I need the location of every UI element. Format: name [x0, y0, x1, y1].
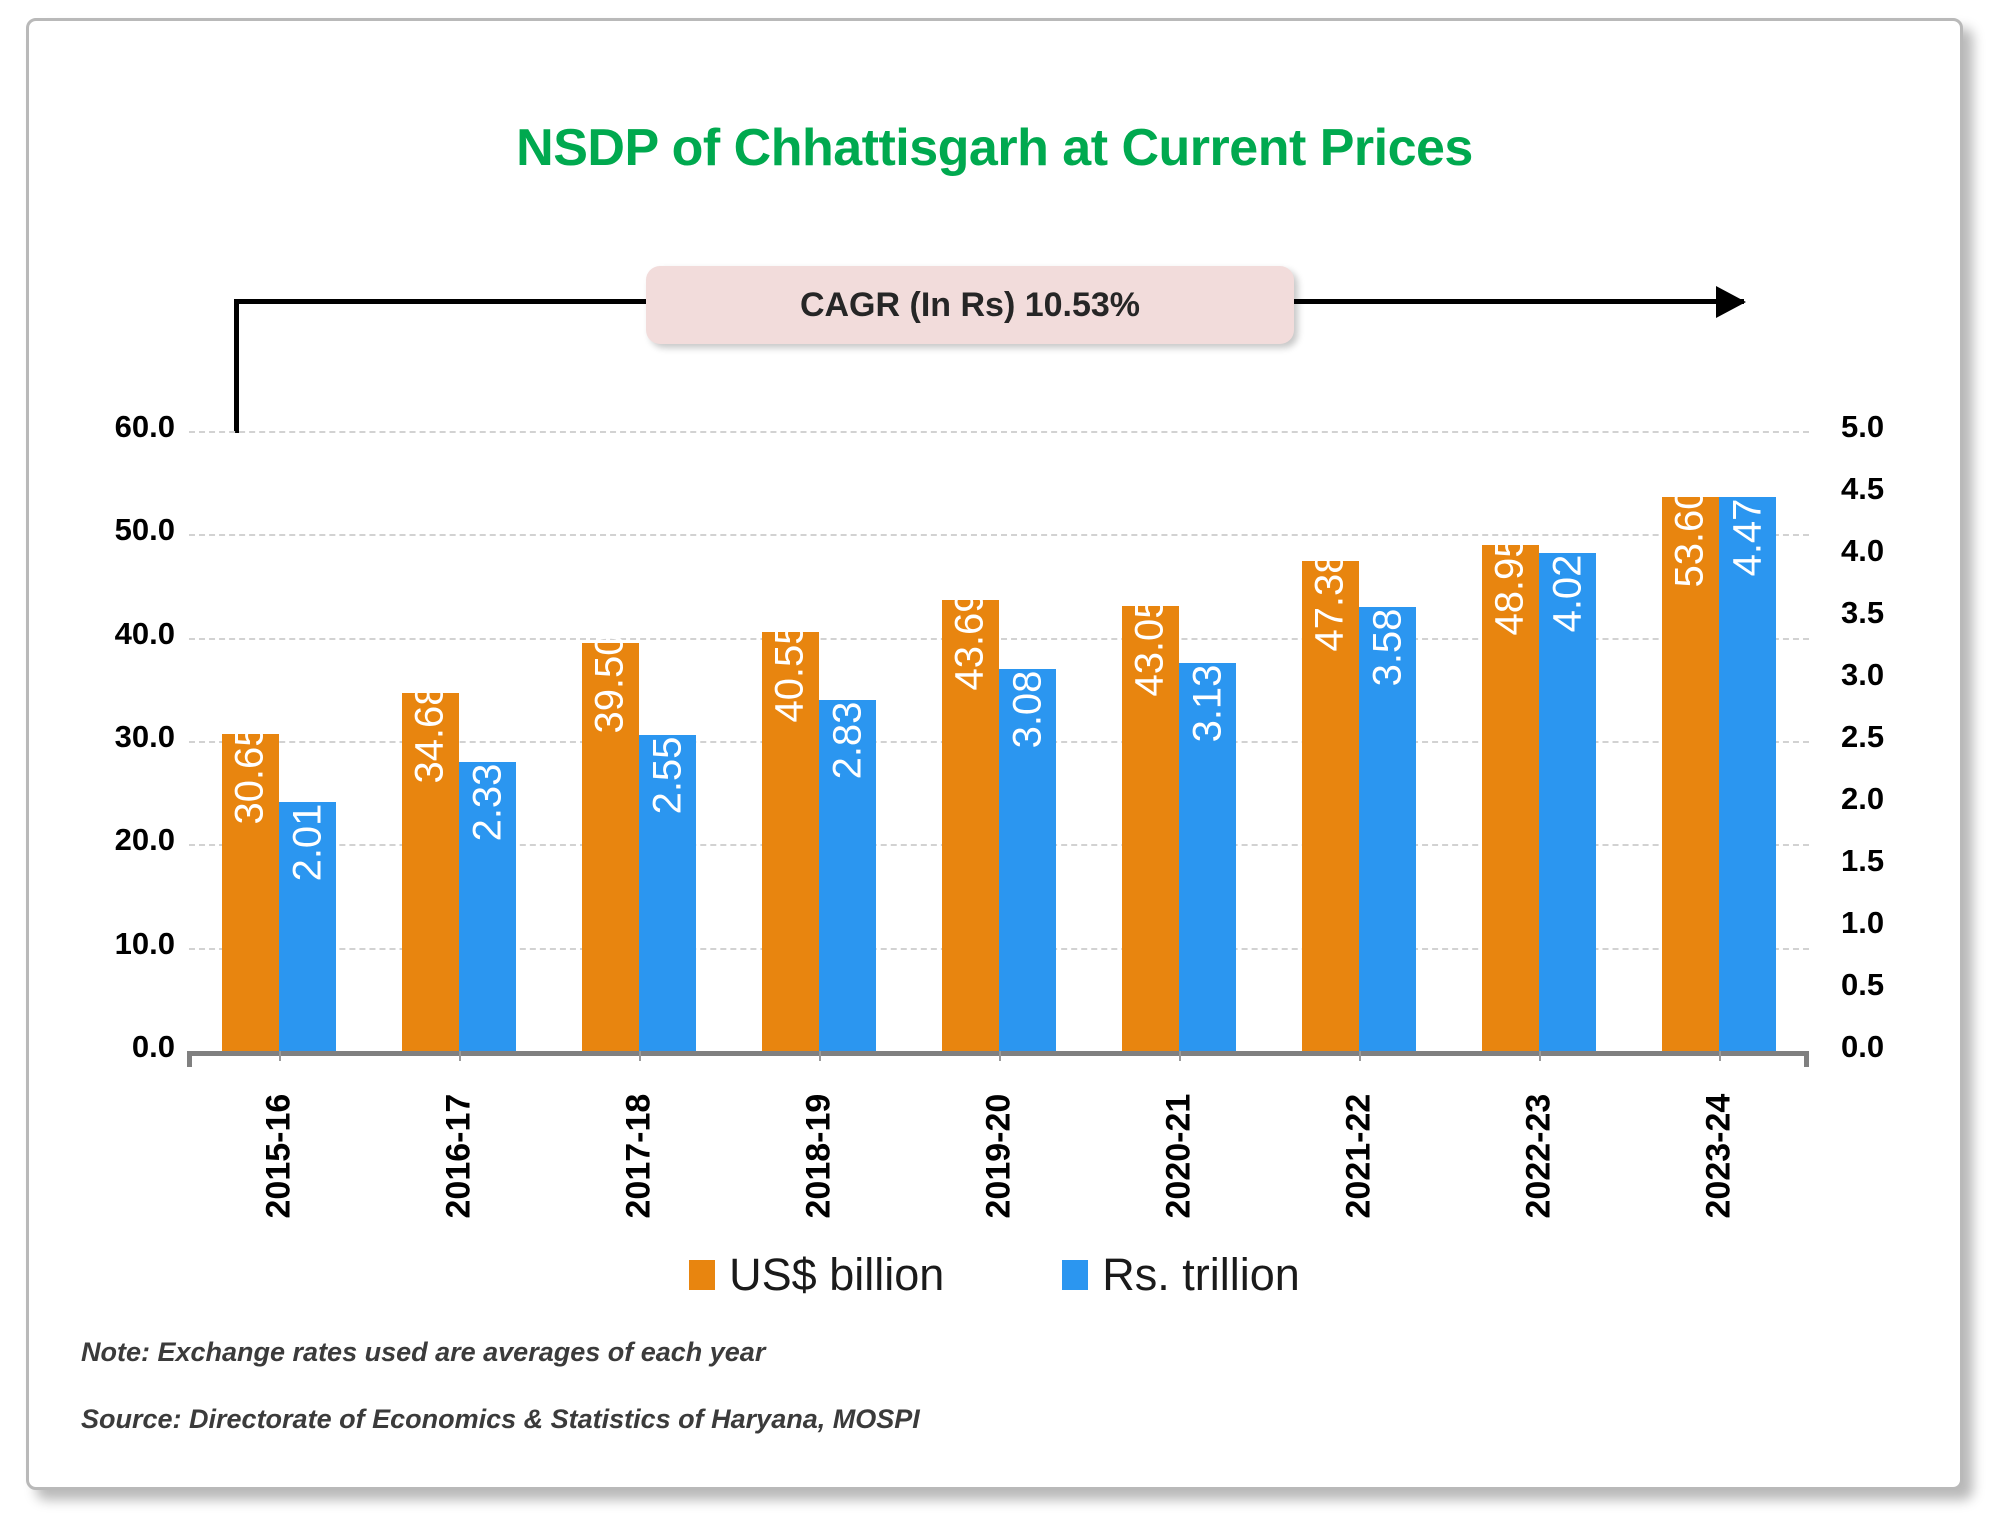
bar-value-label: 34.68 [408, 683, 453, 783]
y-axis-left-tick: 20.0 [87, 822, 175, 858]
x-axis-label: 2019-20 [980, 1099, 1019, 1219]
bar-value-label: 39.50 [588, 633, 633, 733]
arrow-right-icon [1716, 286, 1746, 318]
chart-legend: US$ billionRs. trillion [29, 1249, 1960, 1301]
x-axis-labels: 2015-162016-172017-182018-192019-202020-… [189, 1061, 1809, 1251]
bar-value-label: 2.83 [825, 702, 870, 780]
x-axis-label: 2020-21 [1160, 1099, 1199, 1219]
y-axis-left-tick: 30.0 [87, 719, 175, 755]
y-axis-right-tick: 4.0 [1841, 533, 1884, 569]
bar-inr[interactable]: 2.55 [639, 735, 696, 1051]
bar-group: 47.383.58 [1302, 351, 1416, 1051]
legend-swatch-icon [1062, 1260, 1088, 1290]
bar-value-label: 53.60 [1668, 488, 1713, 588]
y-axis-right-tick: 3.5 [1841, 595, 1884, 631]
y-axis-right-tick: 3.0 [1841, 657, 1884, 693]
legend-label: Rs. trillion [1102, 1249, 1300, 1301]
y-axis-right-tick: 5.0 [1841, 409, 1884, 445]
bar-group: 40.552.83 [762, 351, 876, 1051]
bar-inr[interactable]: 3.58 [1359, 607, 1416, 1051]
x-axis-tick [819, 1051, 821, 1061]
bar-value-label: 2.55 [645, 736, 690, 814]
y-axis-right-tick: 1.0 [1841, 905, 1884, 941]
bar-usd[interactable]: 43.69 [942, 600, 999, 1051]
bar-usd[interactable]: 47.38 [1302, 561, 1359, 1051]
source-line: Source: Directorate of Economics & Stati… [81, 1404, 920, 1435]
bar-group: 30.652.01 [222, 351, 336, 1051]
x-axis-tick [639, 1051, 641, 1061]
cagr-badge: CAGR (In Rs) 10.53% [646, 266, 1294, 344]
bar-inr[interactable]: 2.83 [819, 700, 876, 1051]
legend-item-inr[interactable]: Rs. trillion [1062, 1249, 1300, 1301]
y-axis-left-tick: 60.0 [87, 409, 175, 445]
y-axis-left-tick: 40.0 [87, 616, 175, 652]
x-axis-label: 2021-22 [1340, 1099, 1379, 1219]
bar-usd[interactable]: 40.55 [762, 632, 819, 1051]
legend-swatch-icon [689, 1260, 715, 1290]
bar-value-label: 3.08 [1005, 671, 1050, 749]
bar-value-label: 47.38 [1308, 552, 1353, 652]
bar-value-label: 4.47 [1725, 498, 1770, 576]
x-axis-label: 2018-19 [800, 1099, 839, 1219]
y-axis-right-tick: 2.0 [1841, 781, 1884, 817]
y-axis-left-tick: 10.0 [87, 926, 175, 962]
bar-usd[interactable]: 39.50 [582, 643, 639, 1051]
bar-value-label: 43.69 [948, 590, 993, 690]
y-axis-left-tick: 50.0 [87, 512, 175, 548]
x-axis-label: 2023-24 [1700, 1099, 1739, 1219]
x-axis-tick [1719, 1051, 1721, 1061]
y-axis-right-tick: 2.5 [1841, 719, 1884, 755]
footnotes: Note: Exchange rates used are averages o… [81, 1337, 920, 1471]
cagr-badge-label: CAGR (In Rs) 10.53% [800, 286, 1140, 325]
bar-inr[interactable]: 3.13 [1179, 663, 1236, 1051]
y-axis-left-tick: 0.0 [87, 1029, 175, 1065]
y-axis-right-tick: 1.5 [1841, 843, 1884, 879]
note-line: Note: Exchange rates used are averages o… [81, 1337, 920, 1368]
bar-inr[interactable]: 3.08 [999, 669, 1056, 1051]
bar-group: 43.053.13 [1122, 351, 1236, 1051]
bar-value-label: 4.02 [1545, 554, 1590, 632]
legend-item-usd[interactable]: US$ billion [689, 1249, 944, 1301]
x-axis-tick [459, 1051, 461, 1061]
bar-value-label: 30.65 [228, 725, 273, 825]
x-axis-tick [1359, 1051, 1361, 1061]
bar-value-label: 2.33 [465, 764, 510, 842]
bar-usd[interactable]: 34.68 [402, 693, 459, 1051]
chart-card: NSDP of Chhattisgarh at Current Prices C… [26, 18, 1963, 1490]
legend-label: US$ billion [729, 1249, 944, 1301]
x-axis-label: 2015-16 [260, 1099, 299, 1219]
x-axis-tick [1539, 1051, 1541, 1061]
bar-inr[interactable]: 2.33 [459, 762, 516, 1051]
x-axis-tick [1179, 1051, 1181, 1061]
bar-value-label: 40.55 [768, 622, 813, 722]
bar-group: 39.502.55 [582, 351, 696, 1051]
bar-value-label: 43.05 [1128, 597, 1173, 697]
bar-usd[interactable]: 30.65 [222, 734, 279, 1051]
x-axis-tick [999, 1051, 1001, 1061]
y-axis-right-tick: 0.0 [1841, 1029, 1884, 1065]
x-axis-tick [279, 1051, 281, 1061]
bar-usd[interactable]: 53.60 [1662, 497, 1719, 1051]
bar-value-label: 48.95 [1488, 536, 1533, 636]
x-axis-label: 2022-23 [1520, 1099, 1559, 1219]
bar-value-label: 2.01 [285, 803, 330, 881]
bars-layer: 30.652.0134.682.3339.502.5540.552.8343.6… [189, 351, 1809, 1051]
bar-value-label: 3.13 [1185, 664, 1230, 742]
bar-usd[interactable]: 43.05 [1122, 606, 1179, 1051]
bar-inr[interactable]: 2.01 [279, 802, 336, 1051]
y-axis-right-tick: 0.5 [1841, 967, 1884, 1003]
bar-group: 48.954.02 [1482, 351, 1596, 1051]
y-axis-right-tick: 4.5 [1841, 471, 1884, 507]
bar-group: 43.693.08 [942, 351, 1056, 1051]
bar-group: 53.604.47 [1662, 351, 1776, 1051]
x-axis-label: 2017-18 [620, 1099, 659, 1219]
page-title: NSDP of Chhattisgarh at Current Prices [29, 118, 1960, 178]
bar-group: 34.682.33 [402, 351, 516, 1051]
x-axis-label: 2016-17 [440, 1099, 479, 1219]
bar-inr[interactable]: 4.47 [1719, 497, 1776, 1051]
bar-usd[interactable]: 48.95 [1482, 545, 1539, 1051]
bar-inr[interactable]: 4.02 [1539, 553, 1596, 1051]
bar-value-label: 3.58 [1365, 609, 1410, 687]
